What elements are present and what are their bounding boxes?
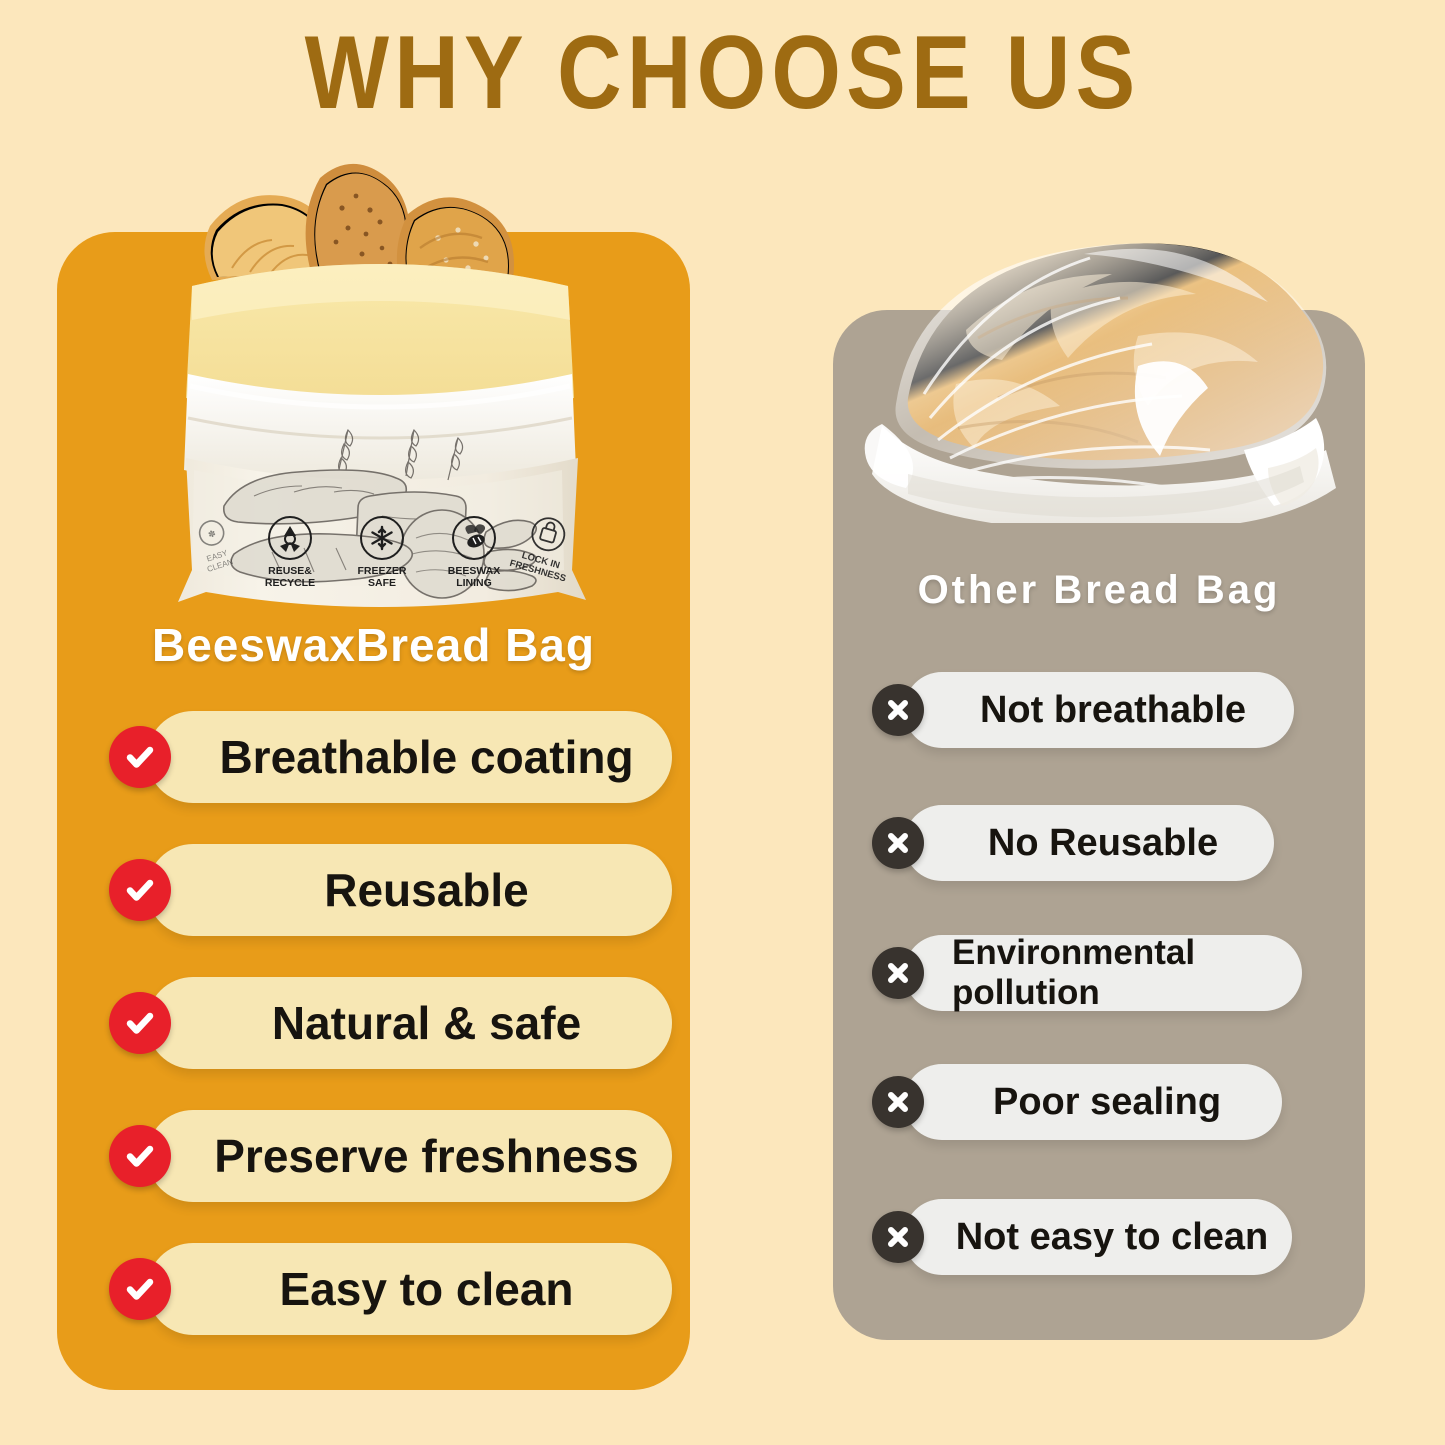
check-icon [109,726,171,788]
drawback-row-no-reusable[interactable]: No Reusable [872,805,1274,881]
check-icon [109,859,171,921]
feature-row-breathable-coating[interactable]: Breathable coating [109,711,672,803]
drawback-label: Not breathable [904,672,1294,748]
feature-row-natural-safe[interactable]: Natural & safe [109,977,672,1069]
svg-text:BEESWAX: BEESWAX [448,565,501,577]
feature-row-preserve-freshness[interactable]: Preserve freshness [109,1110,672,1202]
x-icon [872,1211,924,1263]
drawback-row-poor-sealing[interactable]: Poor sealing [872,1064,1282,1140]
feature-label: Natural & safe [147,977,672,1069]
right-panel-heading: Other Bread Bag [833,568,1365,613]
plastic-wrapped-bread-photo [838,218,1378,523]
x-icon [872,947,924,999]
drawback-label: No Reusable [904,805,1274,881]
svg-text:LINING: LINING [456,577,492,589]
feature-row-easy-to-clean[interactable]: Easy to clean [109,1243,672,1335]
feature-label: Easy to clean [147,1243,672,1335]
drawback-label: Not easy to clean [904,1199,1292,1275]
drawback-row-not-easy-to-clean[interactable]: Not easy to clean [872,1199,1292,1275]
x-icon [872,684,924,736]
feature-label: Reusable [147,844,672,936]
svg-text:SAFE: SAFE [368,577,396,589]
drawback-row-environmental-pollution[interactable]: Environmental pollution [872,935,1302,1011]
svg-text:REUSE&: REUSE& [268,565,312,577]
feature-label: Breathable coating [147,711,672,803]
feature-label: Preserve freshness [147,1110,672,1202]
svg-text:FREEZER: FREEZER [357,565,406,577]
beeswax-bread-bag-photo: ✽ EASY CLEAN REUSE& RECYCLE [170,118,590,618]
page-title: WHY CHOOSE US [101,14,1344,133]
x-icon [872,1076,924,1128]
feature-row-reusable[interactable]: Reusable [109,844,672,936]
drawback-row-not-breathable[interactable]: Not breathable [872,672,1294,748]
x-icon [872,817,924,869]
check-icon [109,1125,171,1187]
svg-text:RECYCLE: RECYCLE [265,577,315,589]
left-panel-heading: BeeswaxBread Bag [57,618,690,672]
drawback-label: Poor sealing [904,1064,1282,1140]
drawback-label: Environmental pollution [904,935,1302,1011]
check-icon [109,1258,171,1320]
check-icon [109,992,171,1054]
